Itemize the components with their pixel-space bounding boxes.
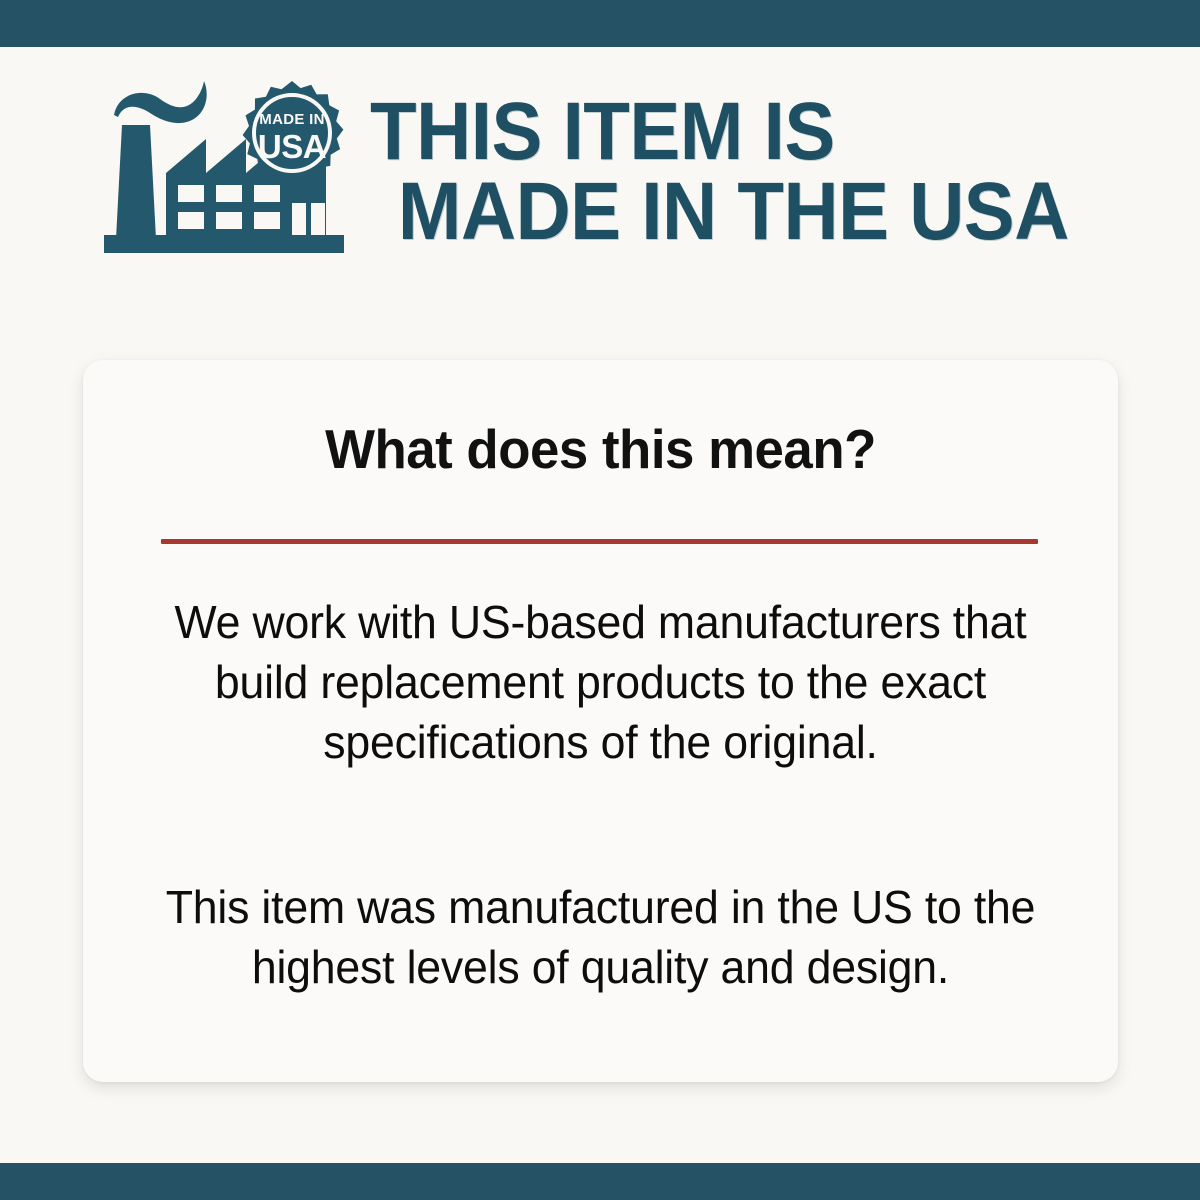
info-card: What does this mean? We work with US-bas… [83,360,1118,1082]
page-title-line-2: MADE IN THE USA [370,172,1142,252]
top-accent-bar [0,0,1200,47]
page-title-line-1: THIS ITEM IS [370,92,1142,172]
svg-text:USA: USA [258,128,326,165]
svg-text:MADE IN: MADE IN [259,111,324,128]
card-paragraph-2: This item was manufactured in the US to … [137,878,1063,998]
factory-icon: MADE IN USA [100,77,348,267]
bottom-accent-bar [0,1163,1200,1200]
header: MADE IN USA THIS ITEM IS MADE IN THE USA [0,47,1200,297]
card-paragraph-1: We work with US-based manufacturers that… [137,593,1063,772]
card-title: What does this mean? [104,422,1098,477]
made-in-usa-banner: MADE IN USA THIS ITEM IS MADE IN THE USA… [0,0,1200,1200]
card-divider [161,539,1038,544]
page-title: THIS ITEM IS MADE IN THE USA [370,92,1142,251]
